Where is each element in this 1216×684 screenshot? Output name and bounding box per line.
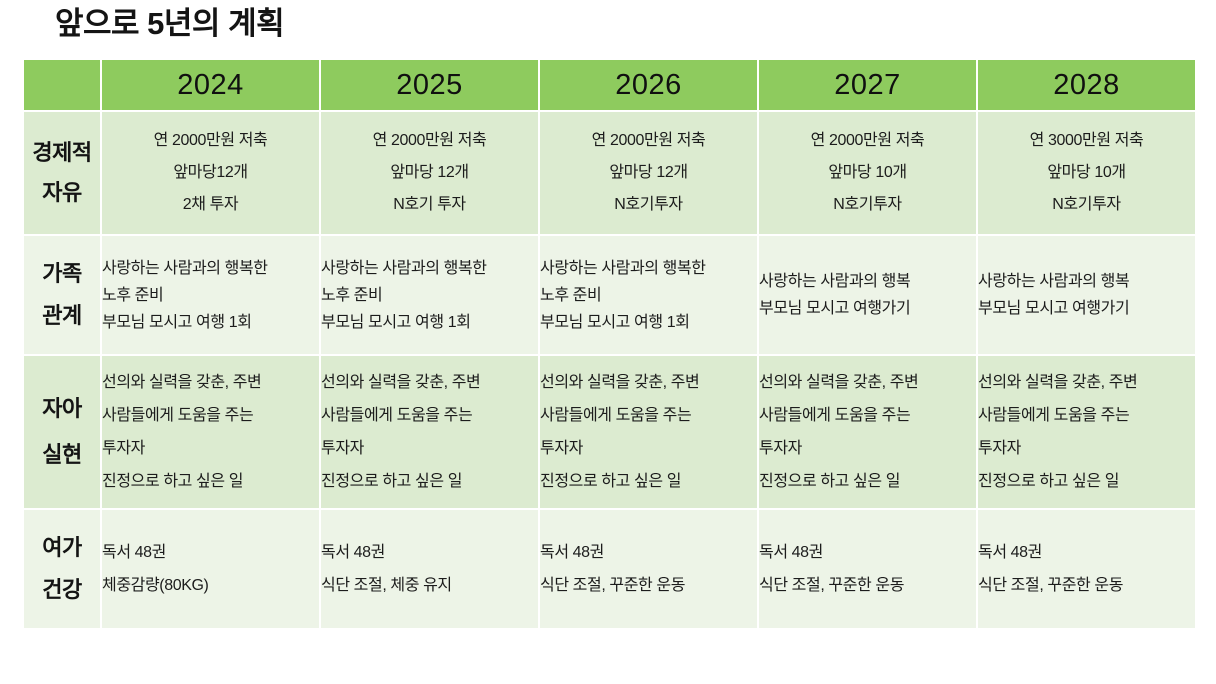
table-row-economic-freedom: 경제적 자유 연 2000만원 저축 앞마당12개 2채 투자 연 2000만원… bbox=[24, 112, 1195, 234]
cell-economic-freedom-2025: 연 2000만원 저축 앞마당 12개 N호기 투자 bbox=[321, 112, 538, 234]
cell-economic-freedom-2026: 연 2000만원 저축 앞마당 12개 N호기투자 bbox=[540, 112, 757, 234]
cell-family-relations-2028: 사랑하는 사람과의 행복 부모님 모시고 여행가기 bbox=[978, 236, 1195, 354]
cell-self-actualization-2025: 선의와 실력을 갖춘, 주변 사람들에게 도움을 주는 투자자 진정으로 하고 … bbox=[321, 356, 538, 508]
row-label-self-actualization: 자아 실현 bbox=[24, 356, 100, 508]
cell-leisure-health-2024: 독서 48권 체중감량(80KG) bbox=[102, 510, 319, 628]
column-header-2028: 2028 bbox=[978, 60, 1195, 110]
row-label-economic-freedom: 경제적 자유 bbox=[24, 112, 100, 234]
table-body: 경제적 자유 연 2000만원 저축 앞마당12개 2채 투자 연 2000만원… bbox=[24, 112, 1195, 628]
column-header-2026: 2026 bbox=[540, 60, 757, 110]
cell-family-relations-2024: 사랑하는 사람과의 행복한 노후 준비 부모님 모시고 여행 1회 bbox=[102, 236, 319, 354]
cell-family-relations-2027: 사랑하는 사람과의 행복 부모님 모시고 여행가기 bbox=[759, 236, 976, 354]
cell-leisure-health-2028: 독서 48권 식단 조절, 꾸준한 운동 bbox=[978, 510, 1195, 628]
cell-economic-freedom-2024: 연 2000만원 저축 앞마당12개 2채 투자 bbox=[102, 112, 319, 234]
column-header-2025: 2025 bbox=[321, 60, 538, 110]
cell-economic-freedom-2027: 연 2000만원 저축 앞마당 10개 N호기투자 bbox=[759, 112, 976, 234]
row-label-leisure-health: 여가 건강 bbox=[24, 510, 100, 628]
page-title: 앞으로 5년의 계획 bbox=[55, 2, 284, 46]
cell-family-relations-2026: 사랑하는 사람과의 행복한 노후 준비 부모님 모시고 여행 1회 bbox=[540, 236, 757, 354]
cell-self-actualization-2028: 선의와 실력을 갖춘, 주변 사람들에게 도움을 주는 투자자 진정으로 하고 … bbox=[978, 356, 1195, 508]
cell-leisure-health-2026: 독서 48권 식단 조절, 꾸준한 운동 bbox=[540, 510, 757, 628]
cell-self-actualization-2027: 선의와 실력을 갖춘, 주변 사람들에게 도움을 주는 투자자 진정으로 하고 … bbox=[759, 356, 976, 508]
slide-canvas: 앞으로 5년의 계획 2024 2025 2026 2027 2028 경제적 … bbox=[0, 0, 1216, 684]
table-row-self-actualization: 자아 실현 선의와 실력을 갖춘, 주변 사람들에게 도움을 주는 투자자 진정… bbox=[24, 356, 1195, 508]
cell-leisure-health-2027: 독서 48권 식단 조절, 꾸준한 운동 bbox=[759, 510, 976, 628]
column-header-2024: 2024 bbox=[102, 60, 319, 110]
table-row-leisure-health: 여가 건강 독서 48권 체중감량(80KG) 독서 48권 식단 조절, 체중… bbox=[24, 510, 1195, 628]
table-corner-cell bbox=[24, 60, 100, 110]
cell-leisure-health-2025: 독서 48권 식단 조절, 체중 유지 bbox=[321, 510, 538, 628]
cell-self-actualization-2026: 선의와 실력을 갖춘, 주변 사람들에게 도움을 주는 투자자 진정으로 하고 … bbox=[540, 356, 757, 508]
table-row-family-relations: 가족 관계 사랑하는 사람과의 행복한 노후 준비 부모님 모시고 여행 1회 … bbox=[24, 236, 1195, 354]
five-year-plan-table: 2024 2025 2026 2027 2028 경제적 자유 연 2000만원… bbox=[22, 58, 1197, 630]
cell-family-relations-2025: 사랑하는 사람과의 행복한 노후 준비 부모님 모시고 여행 1회 bbox=[321, 236, 538, 354]
row-label-family-relations: 가족 관계 bbox=[24, 236, 100, 354]
cell-economic-freedom-2028: 연 3000만원 저축 앞마당 10개 N호기투자 bbox=[978, 112, 1195, 234]
header-row: 2024 2025 2026 2027 2028 bbox=[24, 60, 1195, 110]
column-header-2027: 2027 bbox=[759, 60, 976, 110]
cell-self-actualization-2024: 선의와 실력을 갖춘, 주변 사람들에게 도움을 주는 투자자 진정으로 하고 … bbox=[102, 356, 319, 508]
table-header: 2024 2025 2026 2027 2028 bbox=[24, 60, 1195, 110]
